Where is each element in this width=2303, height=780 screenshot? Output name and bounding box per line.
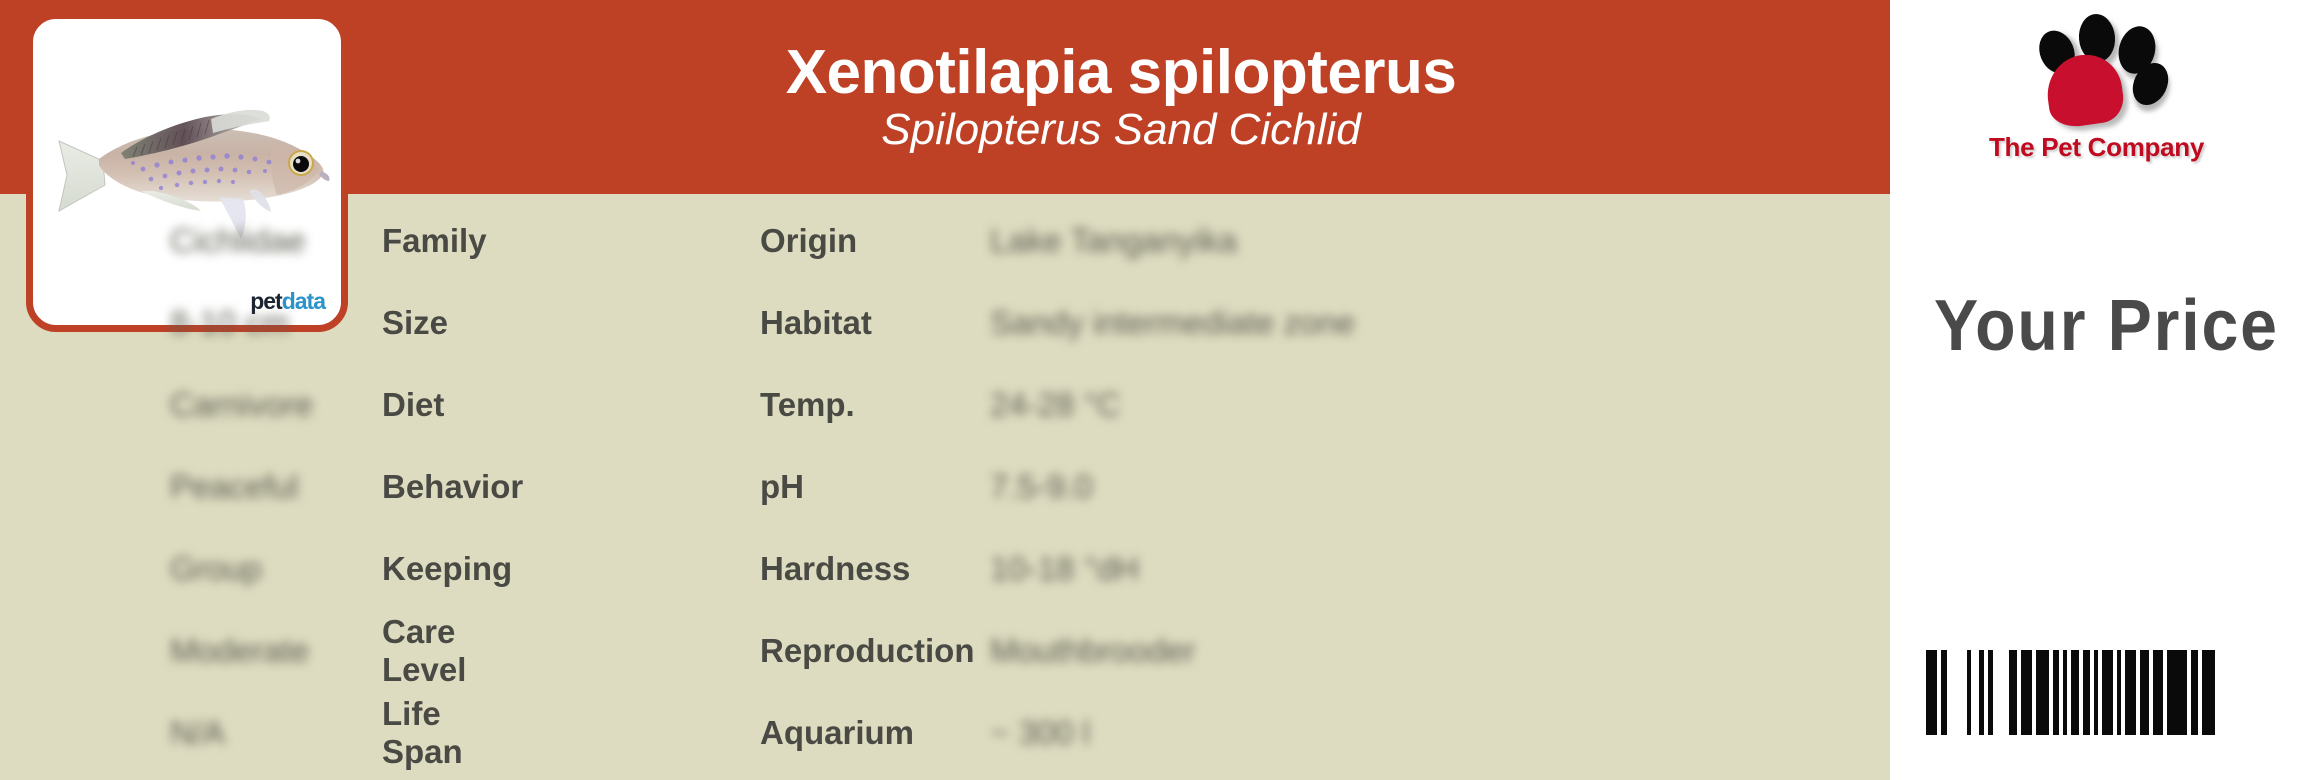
barcode-bar <box>2140 650 2149 735</box>
spec-value-size: 8-10 cm <box>170 282 760 364</box>
barcode-bar <box>2153 650 2163 735</box>
spec-label-aquarium: Aquarium <box>760 692 990 774</box>
spec-label-origin: Origin <box>760 200 990 282</box>
barcode-space <box>1947 650 1967 735</box>
spec-value-behavior: Peaceful <box>170 446 760 528</box>
pet-store-label-sheet: Xenotilapia spilopterus Spilopterus Sand… <box>0 0 2303 780</box>
barcode-space <box>1993 650 2009 735</box>
barcode-bar <box>2036 650 2049 735</box>
barcode-bar <box>2102 650 2113 735</box>
spec-value-diet: Carnivore <box>170 364 760 446</box>
spec-value-family: Cichlidae <box>170 200 760 282</box>
barcode-bar <box>2125 650 2136 735</box>
spec-value-reproduction: Mouthbrooder <box>990 610 1890 692</box>
barcode-bar <box>2071 650 2079 735</box>
spec-value-life-span: N/A <box>170 692 760 774</box>
barcode-bar <box>2009 650 2017 735</box>
spec-value-hardness: 10-18 °dH <box>990 528 1890 610</box>
spec-label-ph: pH <box>760 446 990 528</box>
spec-label-hardness: Hardness <box>760 528 990 610</box>
price-panel: The Pet Company Your Price <box>1890 0 2303 780</box>
spec-value-habitat: Sandy intermediate zone <box>990 282 1890 364</box>
spec-value-aquarium: ~ 300 l <box>990 692 1890 774</box>
barcode-bar <box>2021 650 2032 735</box>
barcode-bar <box>2167 650 2187 735</box>
barcode-bar <box>1926 650 1937 735</box>
page-subtitle: Spilopterus Sand Cichlid <box>881 107 1360 153</box>
spec-value-temp: 24-28 °C <box>990 364 1890 446</box>
spec-value-origin: Lake Tanganyika <box>990 200 1890 282</box>
barcode-space <box>1971 650 1979 735</box>
spec-label-habitat: Habitat <box>760 282 990 364</box>
company-name: The Pet Company <box>1989 132 2204 163</box>
your-price-label: Your Price <box>1934 285 2279 367</box>
header-bar: Xenotilapia spilopterus Spilopterus Sand… <box>352 0 1890 194</box>
barcode-bar <box>2191 650 2198 735</box>
species-spec-grid: Family Cichlidae Origin Lake Tanganyika … <box>0 194 1890 780</box>
spec-value-keeping: Group <box>170 528 760 610</box>
page-title: Xenotilapia spilopterus <box>786 41 1457 104</box>
paw-print-icon <box>2022 8 2172 128</box>
barcode-bar <box>2202 650 2215 735</box>
spec-value-care-level: Moderate <box>170 610 760 692</box>
barcode <box>1926 650 2215 735</box>
spec-label-reproduction: Reproduction <box>760 610 990 692</box>
spec-label-temp: Temp. <box>760 364 990 446</box>
barcode-bar <box>2083 650 2090 735</box>
company-logo: The Pet Company <box>1890 8 2303 188</box>
spec-value-ph: 7.5-9.0 <box>990 446 1890 528</box>
